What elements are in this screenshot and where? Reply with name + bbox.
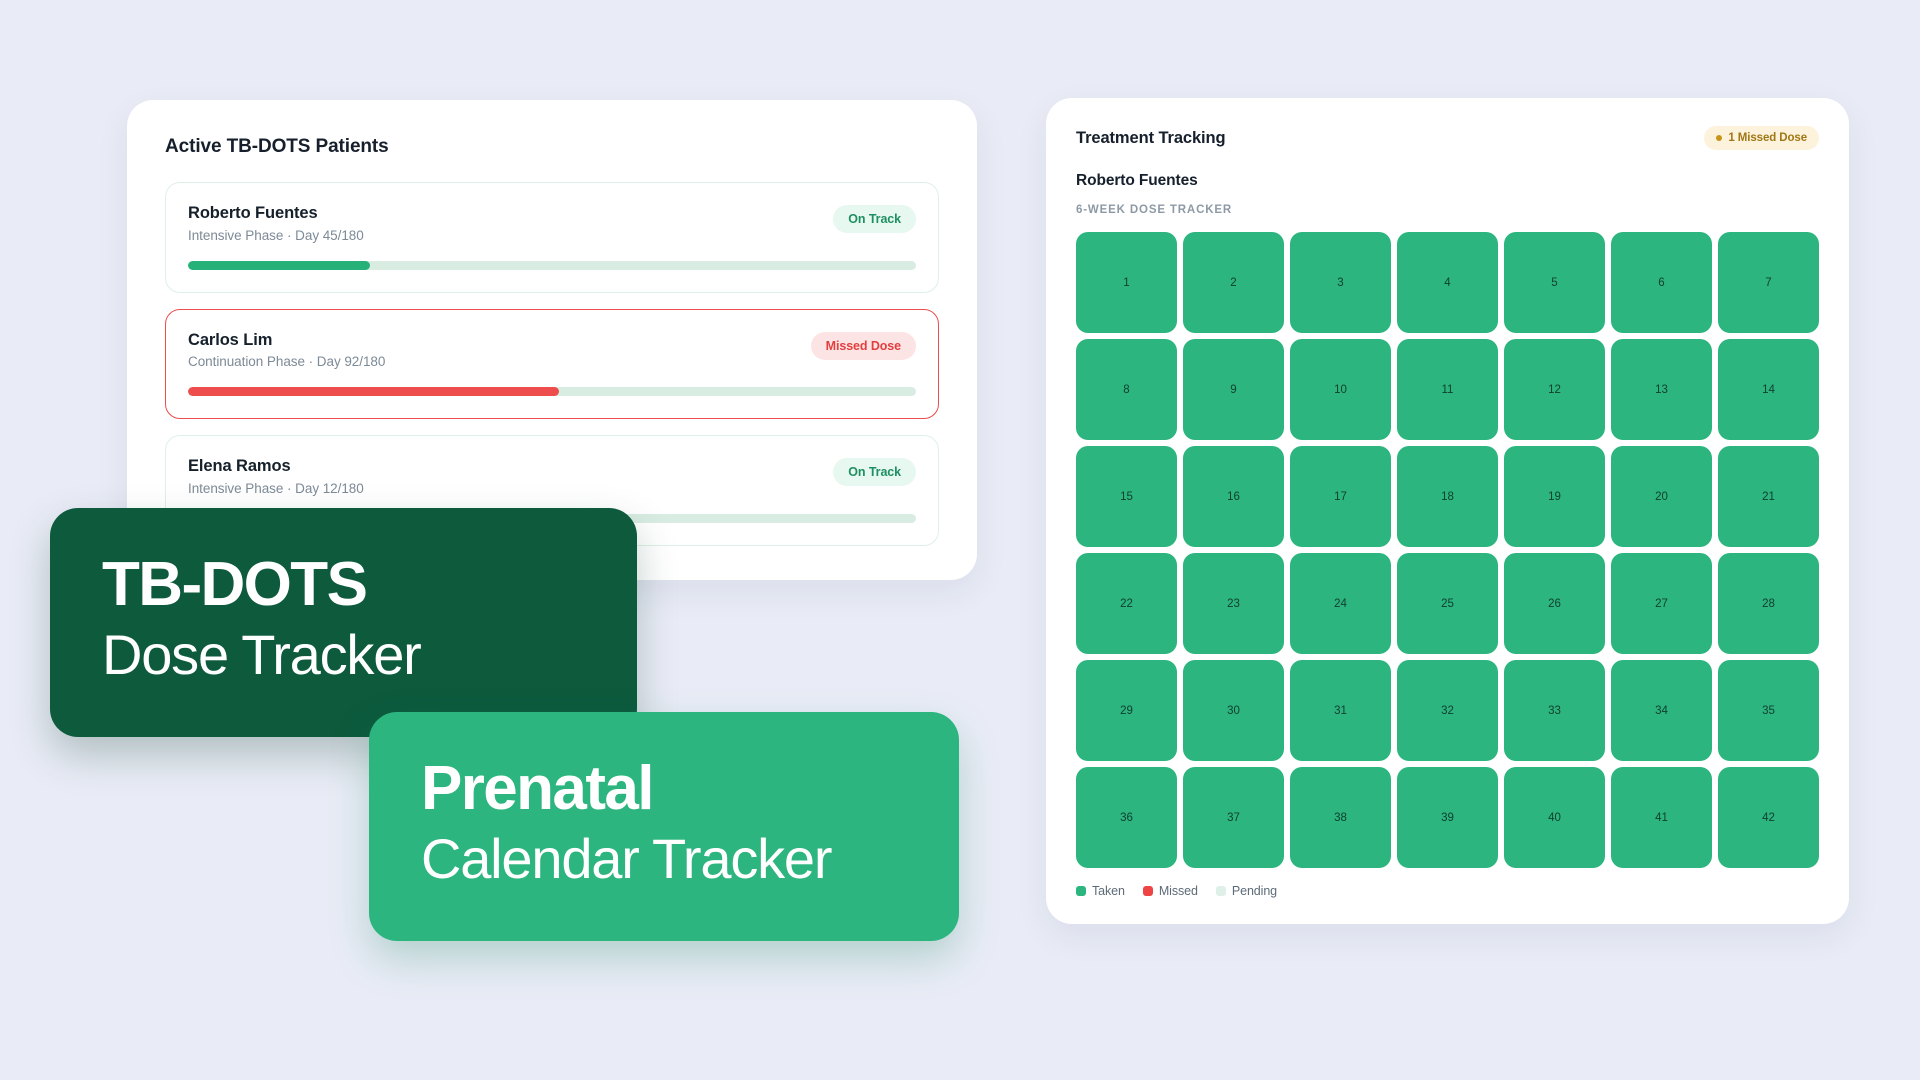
- legend-label: Missed: [1159, 884, 1198, 898]
- title-card-secondary: Dose Tracker: [102, 624, 585, 687]
- dose-calendar-grid: 1234567891011121314151617181920212223242…: [1076, 232, 1819, 868]
- patient-phase-day: Intensive Phase · Day 12/180: [188, 481, 364, 496]
- patient-phase-day: Continuation Phase · Day 92/180: [188, 354, 385, 369]
- dose-day-cell[interactable]: 5: [1504, 232, 1605, 333]
- app-root: Active TB-DOTS Patients Roberto FuentesI…: [0, 0, 1920, 1080]
- legend-swatch-missed-icon: [1143, 886, 1153, 896]
- dose-day-cell[interactable]: 10: [1290, 339, 1391, 440]
- title-card-primary: Prenatal: [421, 758, 907, 820]
- status-badge: On Track: [833, 458, 916, 486]
- dose-day-cell[interactable]: 26: [1504, 553, 1605, 654]
- legend-item: Taken: [1076, 884, 1125, 898]
- legend-label: Taken: [1092, 884, 1125, 898]
- patient-card-header: Carlos LimContinuation Phase · Day 92/18…: [188, 330, 916, 370]
- dose-tracker-section-label: 6-WEEK DOSE TRACKER: [1076, 204, 1819, 216]
- dose-day-cell[interactable]: 41: [1611, 767, 1712, 868]
- title-card-secondary: Calendar Tracker: [421, 828, 907, 891]
- dose-day-cell[interactable]: 42: [1718, 767, 1819, 868]
- treatment-progress-fill: [188, 387, 559, 396]
- legend-swatch-taken-icon: [1076, 886, 1086, 896]
- dose-day-cell[interactable]: 1: [1076, 232, 1177, 333]
- dose-day-cell[interactable]: 27: [1611, 553, 1712, 654]
- title-card-green: PrenatalCalendar Tracker: [369, 712, 959, 941]
- patient-identity: Elena RamosIntensive Phase · Day 12/180: [188, 456, 364, 496]
- title-card-dark: TB-DOTSDose Tracker: [50, 508, 637, 737]
- dose-day-cell[interactable]: 23: [1183, 553, 1284, 654]
- dose-day-cell[interactable]: 37: [1183, 767, 1284, 868]
- dose-day-cell[interactable]: 34: [1611, 660, 1712, 761]
- dose-day-cell[interactable]: 3: [1290, 232, 1391, 333]
- treatment-tracking-panel: Treatment Tracking 1 Missed Dose Roberto…: [1046, 98, 1849, 924]
- dose-day-cell[interactable]: 17: [1290, 446, 1391, 547]
- treatment-tracking-header: Treatment Tracking 1 Missed Dose: [1076, 126, 1819, 150]
- legend-item: Missed: [1143, 884, 1198, 898]
- dose-day-cell[interactable]: 28: [1718, 553, 1819, 654]
- dose-day-cell[interactable]: 29: [1076, 660, 1177, 761]
- dose-day-cell[interactable]: 6: [1611, 232, 1712, 333]
- treatment-progress-fill: [188, 261, 370, 270]
- dose-day-cell[interactable]: 40: [1504, 767, 1605, 868]
- legend-item: Pending: [1216, 884, 1277, 898]
- patient-identity: Roberto FuentesIntensive Phase · Day 45/…: [188, 203, 364, 243]
- title-card-primary: TB-DOTS: [102, 554, 585, 616]
- legend-label: Pending: [1232, 884, 1277, 898]
- dose-day-cell[interactable]: 18: [1397, 446, 1498, 547]
- dose-day-cell[interactable]: 33: [1504, 660, 1605, 761]
- calendar-legend: TakenMissedPending: [1076, 884, 1819, 898]
- patient-card-header: Roberto FuentesIntensive Phase · Day 45/…: [188, 203, 916, 243]
- dose-day-cell[interactable]: 38: [1290, 767, 1391, 868]
- dose-day-cell[interactable]: 20: [1611, 446, 1712, 547]
- patient-name: Elena Ramos: [188, 456, 364, 477]
- patient-identity: Carlos LimContinuation Phase · Day 92/18…: [188, 330, 385, 370]
- patient-name: Carlos Lim: [188, 330, 385, 351]
- dose-day-cell[interactable]: 14: [1718, 339, 1819, 440]
- treatment-progress-bar: [188, 387, 916, 396]
- dose-day-cell[interactable]: 32: [1397, 660, 1498, 761]
- dose-day-cell[interactable]: 8: [1076, 339, 1177, 440]
- dose-day-cell[interactable]: 22: [1076, 553, 1177, 654]
- dose-day-cell[interactable]: 35: [1718, 660, 1819, 761]
- dose-day-cell[interactable]: 2: [1183, 232, 1284, 333]
- dose-day-cell[interactable]: 31: [1290, 660, 1391, 761]
- dose-day-cell[interactable]: 30: [1183, 660, 1284, 761]
- legend-swatch-pending-icon: [1216, 886, 1226, 896]
- dot-icon: [1716, 135, 1722, 141]
- dose-day-cell[interactable]: 39: [1397, 767, 1498, 868]
- dose-day-cell[interactable]: 4: [1397, 232, 1498, 333]
- selected-patient-name: Roberto Fuentes: [1076, 172, 1819, 190]
- page-title: Active TB-DOTS Patients: [165, 136, 939, 158]
- patient-name: Roberto Fuentes: [188, 203, 364, 224]
- status-badge: Missed Dose: [811, 332, 916, 360]
- treatment-progress-bar: [188, 261, 916, 270]
- dose-day-cell[interactable]: 13: [1611, 339, 1712, 440]
- dose-day-cell[interactable]: 24: [1290, 553, 1391, 654]
- patient-card-header: Elena RamosIntensive Phase · Day 12/180O…: [188, 456, 916, 496]
- treatment-tracking-title: Treatment Tracking: [1076, 129, 1226, 148]
- status-badge: On Track: [833, 205, 916, 233]
- dose-day-cell[interactable]: 11: [1397, 339, 1498, 440]
- patient-phase-day: Intensive Phase · Day 45/180: [188, 228, 364, 243]
- dose-day-cell[interactable]: 25: [1397, 553, 1498, 654]
- dose-day-cell[interactable]: 19: [1504, 446, 1605, 547]
- dose-day-cell[interactable]: 7: [1718, 232, 1819, 333]
- status-badge: 1 Missed Dose: [1704, 126, 1819, 150]
- dose-day-cell[interactable]: 16: [1183, 446, 1284, 547]
- dose-day-cell[interactable]: 36: [1076, 767, 1177, 868]
- dose-day-cell[interactable]: 12: [1504, 339, 1605, 440]
- patient-list: Roberto FuentesIntensive Phase · Day 45/…: [165, 182, 939, 546]
- patient-card[interactable]: Carlos LimContinuation Phase · Day 92/18…: [165, 309, 939, 420]
- dose-day-cell[interactable]: 15: [1076, 446, 1177, 547]
- dose-day-cell[interactable]: 9: [1183, 339, 1284, 440]
- dose-day-cell[interactable]: 21: [1718, 446, 1819, 547]
- patient-card[interactable]: Roberto FuentesIntensive Phase · Day 45/…: [165, 182, 939, 293]
- missed-dose-count-label: 1 Missed Dose: [1728, 132, 1807, 144]
